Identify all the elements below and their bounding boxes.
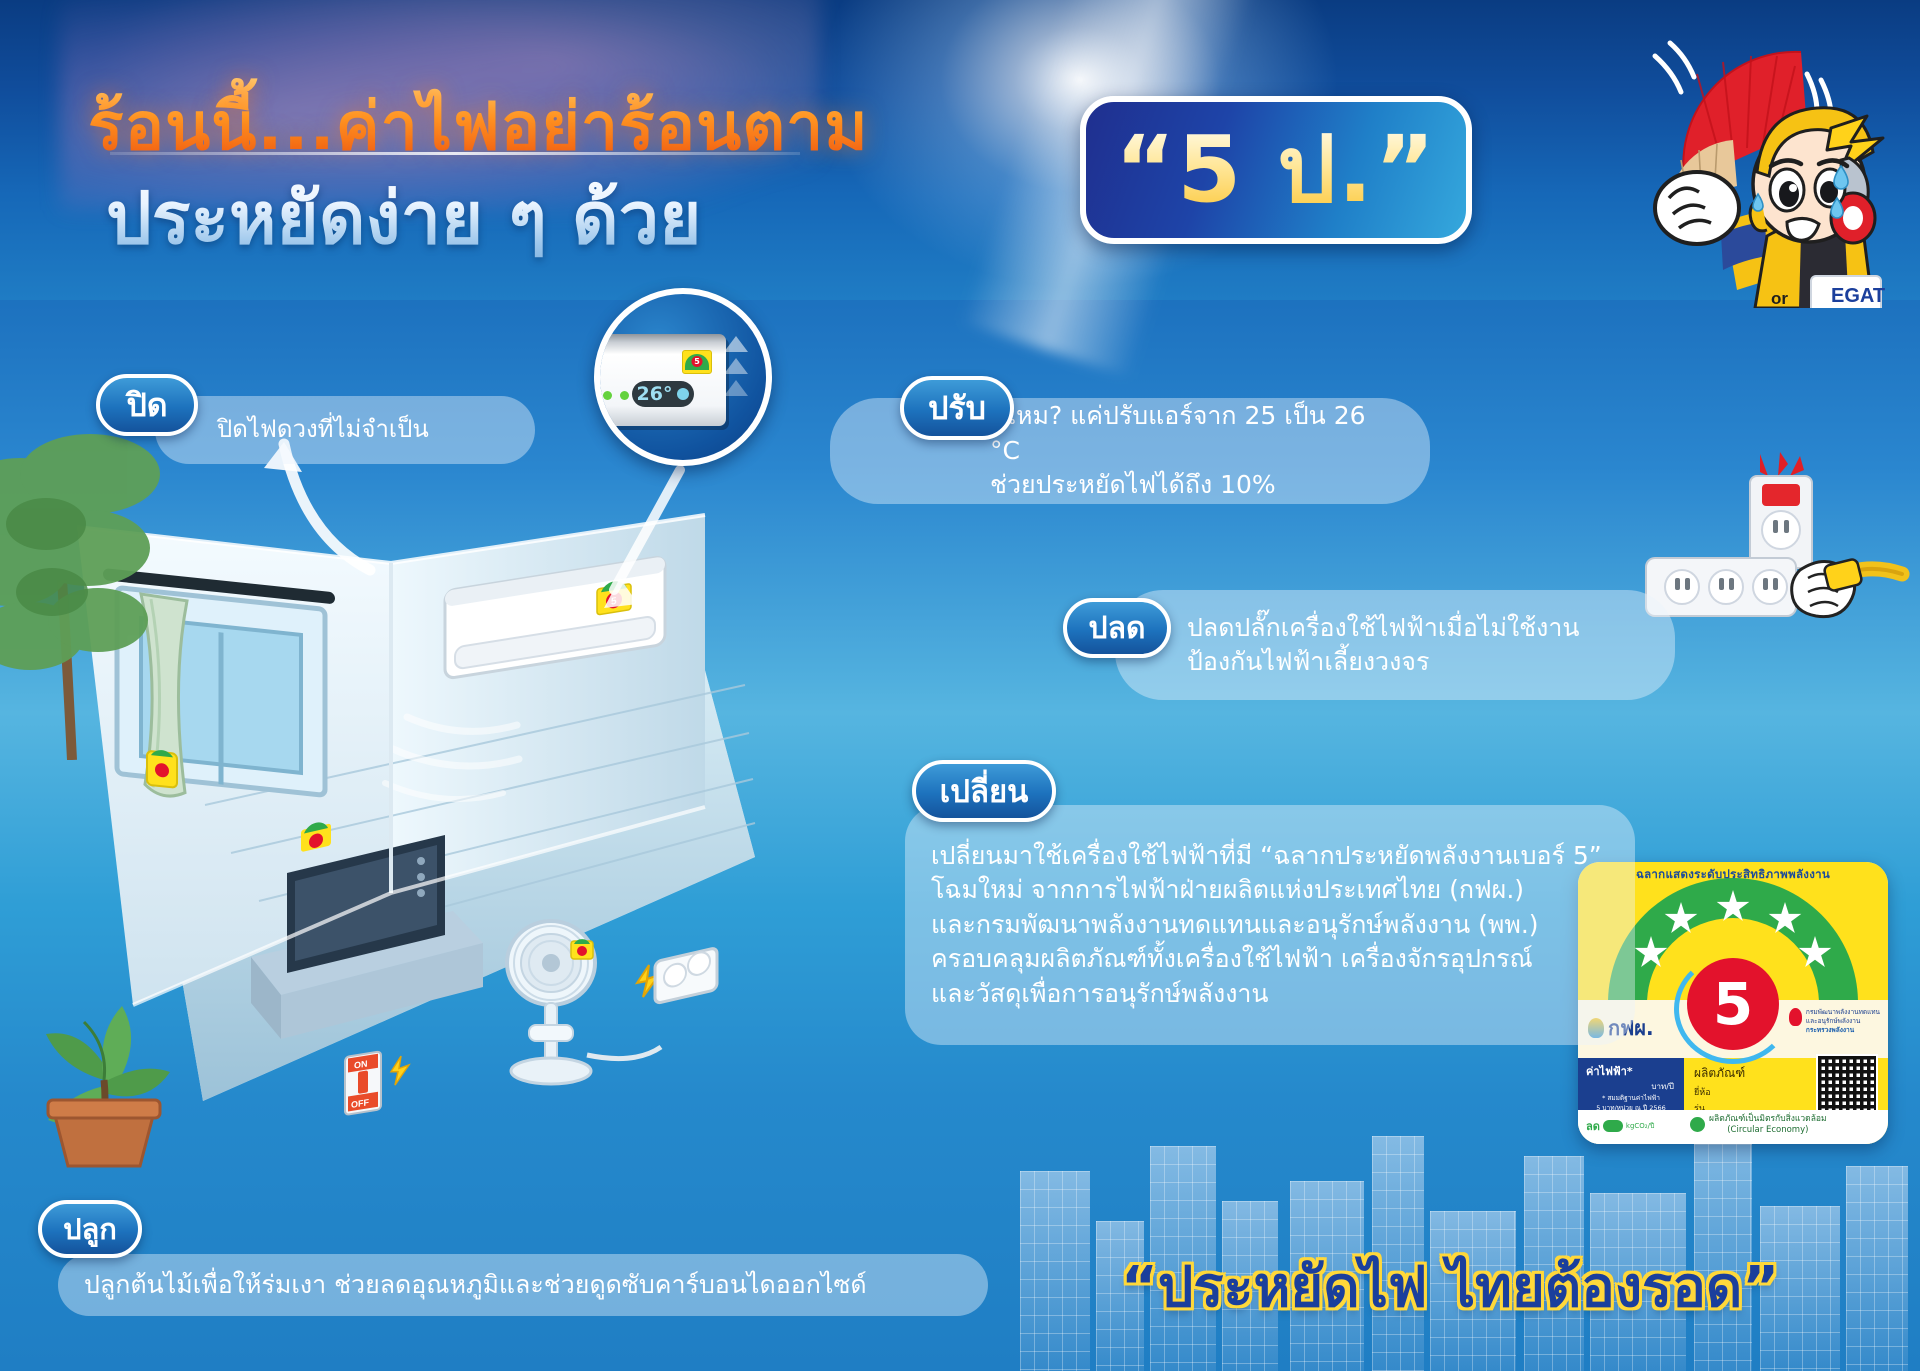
ministry-line1: กรมพัฒนาพลังงานทดแทน: [1806, 1008, 1880, 1017]
tip-text-plian-line1: เปลี่ยนมาใช้เครื่องใช้ไฟฟ้าที่มี “ฉลากปร…: [931, 839, 1602, 874]
tip-bubble-plod: ปลดปลั๊กเครื่องใช้ไฟฟ้าเมื่อไม่ใช้งาน ป้…: [1115, 590, 1675, 700]
switch-on-label: ON: [354, 1058, 367, 1070]
light-switch: ON OFF: [345, 1047, 409, 1115]
ac-zoom-circle: 5 26°: [594, 288, 772, 466]
spark-icon: [1760, 452, 1804, 476]
ac-zoom-display: 26°: [632, 381, 694, 407]
ac-zoom-led-1: [603, 391, 612, 400]
five-por-badge: “5 ป.”: [1080, 96, 1472, 244]
tip-text-plian: เปลี่ยนมาใช้เครื่องใช้ไฟฟ้าที่มี “ฉลากปร…: [905, 839, 1628, 1012]
leaf-icon: [1690, 1117, 1705, 1132]
tip-label-prab-text: ปรับ: [928, 383, 986, 434]
five-por-badge-text: “5 ป.”: [1115, 124, 1437, 216]
tip-bubble-pluk: ปลูกต้นไม้เพื่อให้ร่มเงา ช่วยลดอุณหภูมิแ…: [58, 1254, 988, 1316]
ac-unit-zoom: 5 26°: [594, 334, 726, 426]
tip-text-plod-line1: ปลดปลั๊กเครื่องใช้ไฟฟ้าเมื่อไม่ใช้งาน: [1187, 611, 1579, 646]
svg-text:EGAT: EGAT: [1831, 285, 1885, 307]
tip-text-plian-line5: และวัสดุเพื่อการอนุรักษ์พลังงาน: [931, 977, 1602, 1012]
power-strip-illustration: [1640, 450, 1910, 640]
eco-line1: ผลิตภัณฑ์เป็นมิตรกับสิ่งแวดล้อม: [1709, 1114, 1827, 1125]
tip-text-prab-line1: รู้ไหม? แค่ปรับแอร์จาก 25 เป็น 26 °C: [990, 399, 1400, 468]
eco-line2: (Circular Economy): [1709, 1125, 1827, 1136]
energy-label-number: 5: [1713, 975, 1753, 1033]
co2-unit: kgCO₂/ปี: [1626, 1121, 1655, 1132]
tip-text-pluk: ปลูกต้นไม้เพื่อให้ร่มเงา ช่วยลดอุณหภูมิแ…: [58, 1268, 897, 1303]
potted-plant: [18, 940, 188, 1170]
eco-mark: ผลิตภัณฑ์เป็นมิตรกับสิ่งแวดล้อม (Circula…: [1690, 1114, 1827, 1135]
cost-note1: * สมมติฐานค่าไฟฟ้า: [1578, 1093, 1684, 1103]
title-divider: [110, 152, 800, 155]
tip-bubble-pid: ปิดไฟดวงที่ไม่จำเป็น: [155, 396, 535, 464]
ac-zoom-temp: 26°: [637, 383, 673, 405]
tip-text-prab-line2: ช่วยประหยัดไฟได้ถึง 10%: [990, 468, 1400, 503]
footer-slogan: “ประหยัดไฟ ไทยต้องรอด”: [1050, 1242, 1850, 1331]
tip-text-plod: ปลดปลั๊กเครื่องใช้ไฟฟ้าเมื่อไม่ใช้งาน ป้…: [1115, 611, 1609, 680]
cold-air-arrows: [724, 336, 748, 396]
egat-mascot: EGAT or: [1625, 8, 1920, 308]
page-title-line2: ประหยัดง่าย ๆ ด้วย: [106, 160, 701, 275]
tip-label-plian: เปลี่ยน: [912, 760, 1056, 822]
qr-code: [1816, 1054, 1878, 1116]
svg-text:or: or: [1771, 289, 1788, 308]
co2-cloud-icon: [1603, 1120, 1623, 1132]
energy-label-footer: ลด kgCO₂/ปี ผลิตภัณฑ์เป็นมิตรกับสิ่งแวดล…: [1578, 1110, 1888, 1144]
tip-text-pid: ปิดไฟดวงที่ไม่จำเป็น: [155, 413, 459, 446]
building-8: [1846, 1166, 1908, 1371]
co2-reduce-mark: ลด kgCO₂/ปี: [1586, 1117, 1654, 1135]
tip-label-pluk-text: ปลูก: [63, 1206, 117, 1252]
co2-reduce-text: ลด: [1586, 1117, 1600, 1135]
energy-label-cost-box: ค่าไฟฟ้า* บาท/ปี * สมมติฐานค่าไฟฟ้า 5 บา…: [1578, 1058, 1684, 1116]
tip-label-plod: ปลด: [1063, 598, 1171, 658]
tip-bubble-plian: เปลี่ยนมาใช้เครื่องใช้ไฟฟ้าที่มี “ฉลากปร…: [905, 805, 1635, 1045]
tip-label-pluk: ปลูก: [38, 1200, 142, 1258]
floor-outlet: [637, 947, 717, 1003]
product-title: ผลิตภัณฑ์: [1694, 1064, 1745, 1083]
product-brand: ยี่ห้อ: [1694, 1085, 1745, 1099]
tip-label-pid: ปิด: [96, 374, 198, 436]
ministry-line2: และอนุรักษ์พลังงาน: [1806, 1017, 1880, 1026]
ac-zoom-no5-sticker: 5: [682, 350, 712, 374]
tip-label-plian-text: เปลี่ยน: [940, 766, 1029, 816]
infographic-canvas: ร้อนนี้...ค่าไฟอย่าร้อนตาม ประหยัดง่าย ๆ…: [0, 0, 1920, 1371]
tip-text-plian-line4: ครอบคลุมผลิตภัณฑ์ทั้งเครื่องใช้ไฟฟ้า เคร…: [931, 942, 1602, 977]
outdoor-tree: [0, 430, 210, 760]
cost-unit: บาท/ปี: [1578, 1080, 1684, 1093]
tip-text-plod-line2: ป้องกันไฟฟ้าเลี้ยงวงจร: [1187, 645, 1579, 680]
electric-fan: [507, 921, 661, 1084]
tip-text-plian-line3: และกรมพัฒนาพลังงานทดแทนและอนุรักษ์พลังงา…: [931, 908, 1602, 943]
energy-label-number-circle: 5: [1687, 958, 1779, 1050]
tip-label-plod-text: ปลด: [1089, 605, 1146, 652]
ministry-line3: กระทรวงพลังงาน: [1806, 1026, 1880, 1035]
cost-title: ค่าไฟฟ้า*: [1578, 1058, 1684, 1080]
tip-label-pid-text: ปิด: [126, 380, 167, 431]
tip-text-plian-line2: โฉมใหม่ จากการไฟฟ้าฝ่ายผลิตแห่งประเทศไทย…: [931, 873, 1602, 908]
ministry-mark: กรมพัฒนาพลังงานทดแทน และอนุรักษ์พลังงาน …: [1789, 1008, 1880, 1034]
ac-zoom-led-2: [620, 391, 629, 400]
tip-label-prab: ปรับ: [900, 376, 1014, 440]
